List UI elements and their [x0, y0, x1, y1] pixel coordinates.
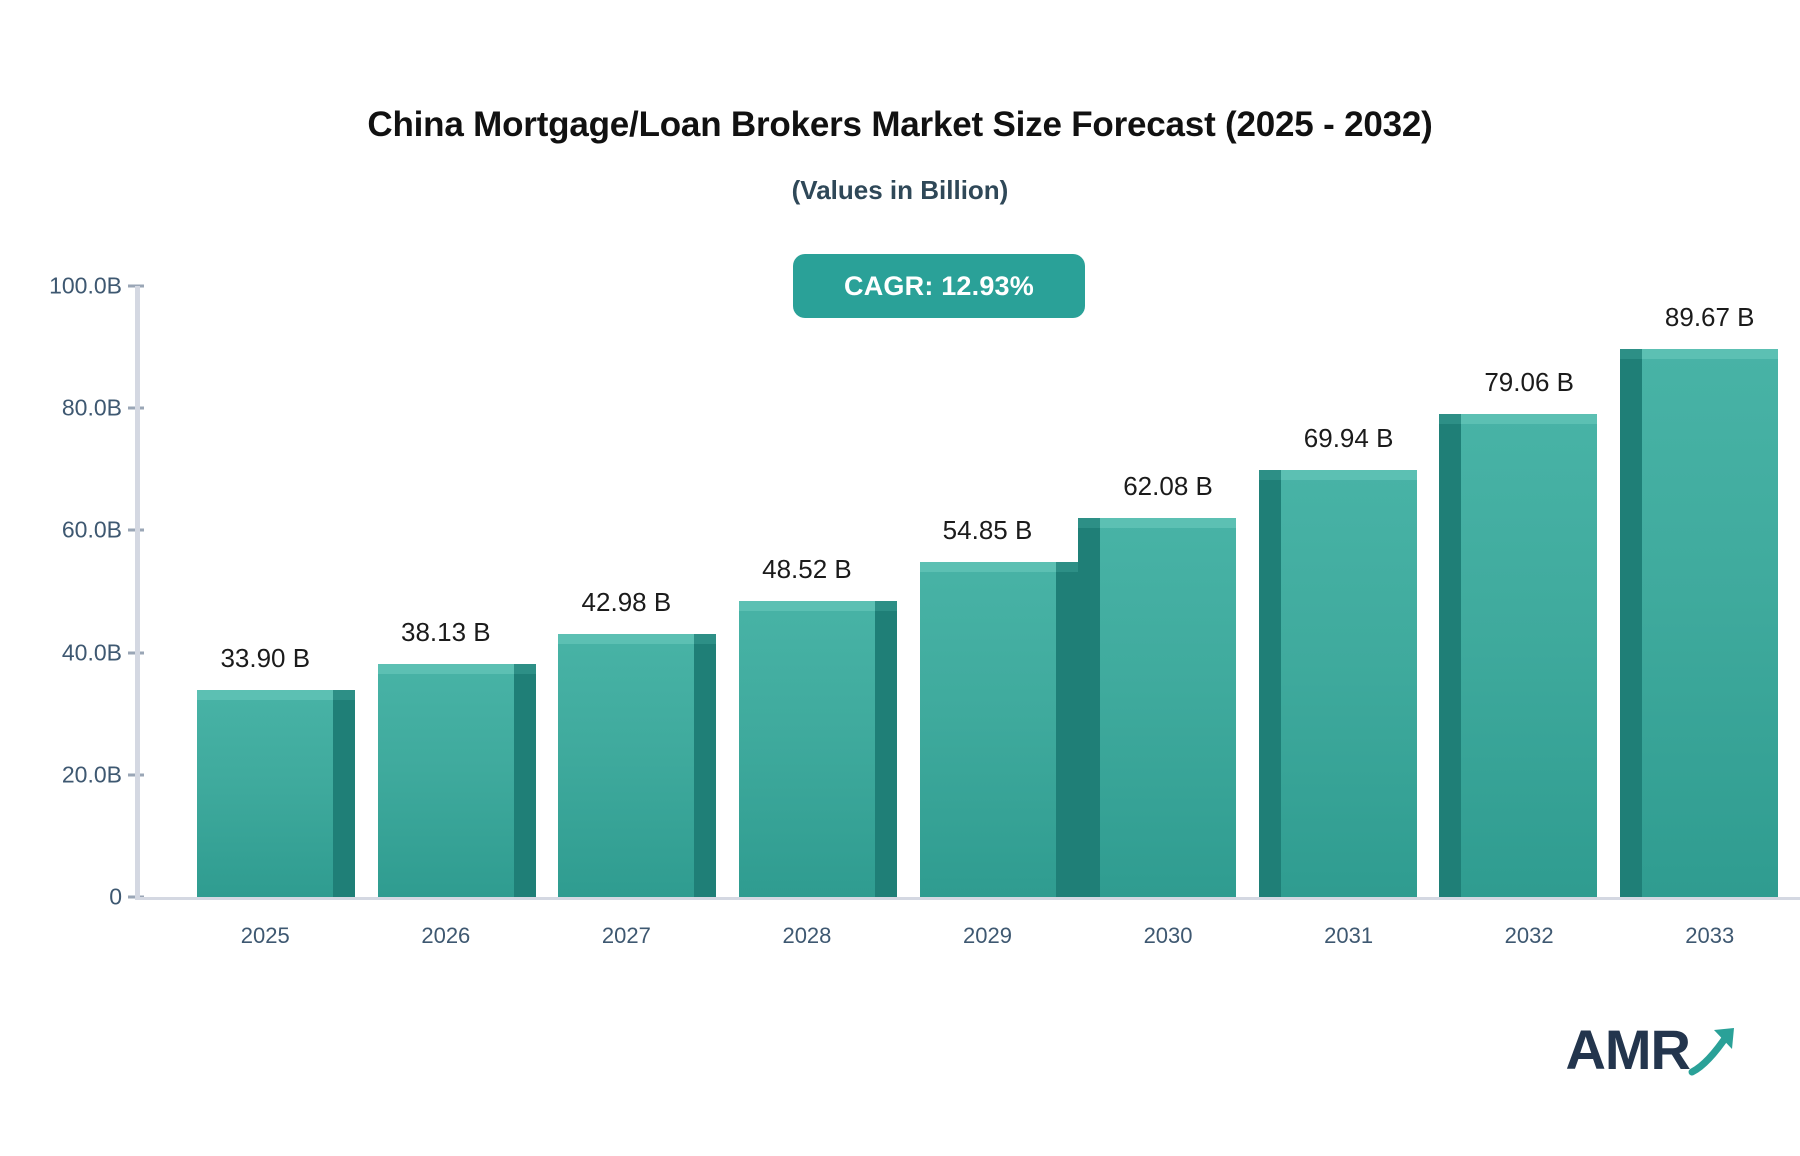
y-axis-tick-label: 40.0B	[12, 639, 122, 666]
x-axis-tick-label: 2030	[1144, 923, 1193, 949]
bar-front-face	[739, 601, 875, 897]
chart-subtitle: (Values in Billion)	[0, 175, 1800, 206]
bar-2025[interactable]: 33.90 B	[197, 690, 333, 897]
bar-side-face	[1439, 424, 1461, 897]
bar-side-face	[875, 611, 897, 897]
x-axis-tick-label: 2033	[1685, 923, 1734, 949]
plot-area: 33.90 B38.13 B42.98 B48.52 B54.85 B62.08…	[135, 286, 1800, 900]
x-axis-tick-label: 2026	[421, 923, 470, 949]
bar-top-face	[1056, 562, 1078, 572]
bar-2030[interactable]: 62.08 B	[1100, 518, 1236, 897]
bar-top-face	[694, 634, 716, 644]
bar-top-face	[514, 664, 536, 674]
x-axis-tick-label: 2029	[963, 923, 1012, 949]
y-axis-line	[135, 286, 140, 900]
bar-2032[interactable]: 79.06 B	[1461, 414, 1597, 897]
x-axis-tick-label: 2025	[241, 923, 290, 949]
bar-highlight-edge	[378, 664, 514, 674]
x-axis-tick-label: 2031	[1324, 923, 1373, 949]
bar-side-face	[694, 644, 716, 897]
bar-front-face	[558, 634, 694, 897]
bar-front-face	[1100, 518, 1236, 897]
y-axis-tick-label: 20.0B	[12, 761, 122, 788]
bar-side-face	[1259, 480, 1281, 897]
bar-value-label: 42.98 B	[582, 587, 672, 618]
y-axis-tick-label: 80.0B	[12, 395, 122, 422]
x-axis-tick-label: 2027	[602, 923, 651, 949]
bar-2026[interactable]: 38.13 B	[378, 664, 514, 897]
bar-top-face	[1620, 349, 1642, 359]
bar-value-label: 69.94 B	[1304, 423, 1394, 454]
x-axis-tick-label: 2032	[1505, 923, 1554, 949]
bar-top-face	[333, 690, 355, 700]
bar-top-face	[1078, 518, 1100, 528]
bar-value-label: 33.90 B	[220, 643, 310, 674]
bar-side-face	[1620, 359, 1642, 897]
growth-arrow-icon	[1684, 1022, 1742, 1078]
bar-highlight-edge	[739, 601, 875, 611]
bar-top-face	[1259, 470, 1281, 480]
bar-value-label: 79.06 B	[1484, 367, 1574, 398]
bar-highlight-edge	[1642, 349, 1778, 359]
bar-highlight-edge	[558, 634, 694, 644]
bar-value-label: 38.13 B	[401, 617, 491, 648]
bar-top-face	[1439, 414, 1461, 424]
bar-highlight-edge	[1281, 470, 1417, 480]
bar-value-label: 48.52 B	[762, 554, 852, 585]
chart-canvas: China Mortgage/Loan Brokers Market Size …	[0, 0, 1800, 1156]
bar-highlight-edge	[197, 690, 333, 700]
bar-front-face	[920, 562, 1056, 897]
y-axis-tick-label: 0	[12, 884, 122, 911]
bar-front-face	[1281, 470, 1417, 897]
x-axis-line	[135, 897, 1800, 900]
bar-side-face	[333, 700, 355, 897]
bar-side-face	[1078, 528, 1100, 897]
bar-2031[interactable]: 69.94 B	[1281, 470, 1417, 897]
y-axis-tick-label: 100.0B	[12, 273, 122, 300]
bar-2028[interactable]: 48.52 B	[739, 601, 875, 897]
bar-2027[interactable]: 42.98 B	[558, 634, 694, 897]
bar-front-face	[1642, 349, 1778, 897]
bar-front-face	[378, 664, 514, 897]
bar-value-label: 62.08 B	[1123, 471, 1213, 502]
bar-highlight-edge	[1461, 414, 1597, 424]
bar-highlight-edge	[1100, 518, 1236, 528]
bar-value-label: 54.85 B	[943, 515, 1033, 546]
bar-side-face	[1056, 572, 1078, 897]
y-axis-tick-label: 60.0B	[12, 517, 122, 544]
bar-front-face	[1461, 414, 1597, 897]
bar-front-face	[197, 690, 333, 897]
bar-top-face	[875, 601, 897, 611]
amr-logo-text: AMR	[1565, 1022, 1690, 1078]
bar-2029[interactable]: 54.85 B	[920, 562, 1056, 897]
amr-logo: AMR	[1565, 1022, 1742, 1078]
bar-side-face	[514, 674, 536, 897]
bar-value-label: 89.67 B	[1665, 302, 1755, 333]
x-axis-tick-label: 2028	[782, 923, 831, 949]
bar-2033[interactable]: 89.67 B	[1642, 349, 1778, 897]
chart-title: China Mortgage/Loan Brokers Market Size …	[0, 105, 1800, 145]
bar-highlight-edge	[920, 562, 1056, 572]
